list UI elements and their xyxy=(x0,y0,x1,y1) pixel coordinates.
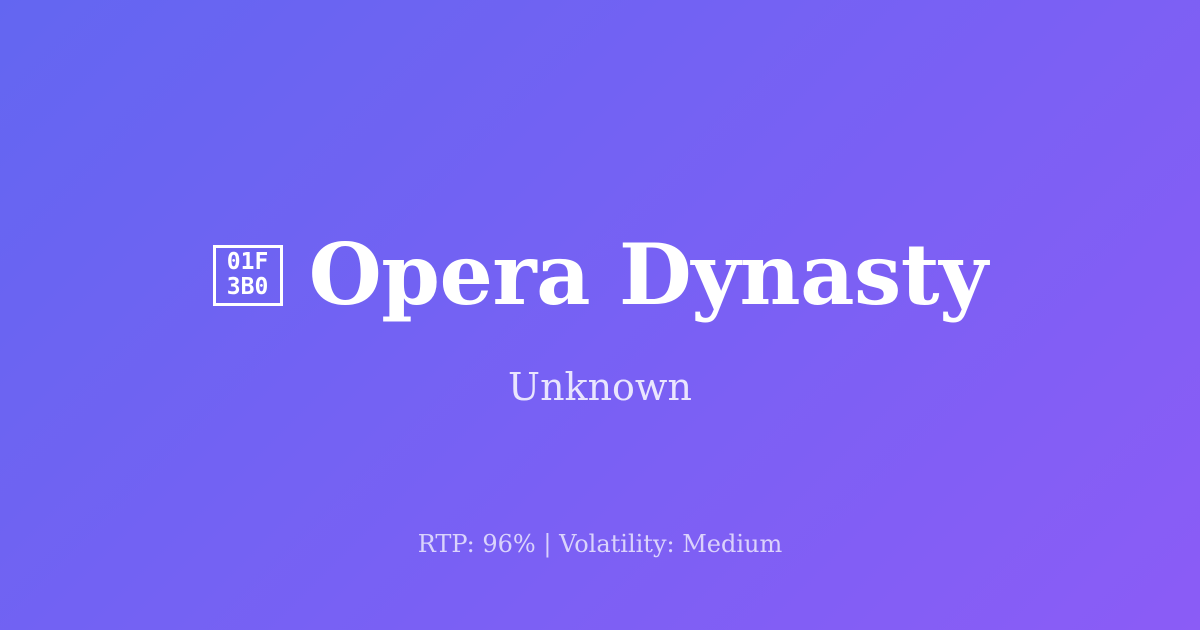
og-card: 01F 3B0 Opera Dynasty Unknown RTP: 96% |… xyxy=(0,0,1200,630)
tofu-codepoint-row-top: 01F xyxy=(227,250,269,275)
page-title: Opera Dynasty xyxy=(309,232,988,318)
game-stats-line: RTP: 96% | Volatility: Medium xyxy=(0,529,1200,559)
page-subtitle: Unknown xyxy=(0,364,1200,410)
tofu-codepoint-row-bottom: 3B0 xyxy=(227,275,269,300)
title-row: 01F 3B0 Opera Dynasty xyxy=(0,232,1200,318)
slot-machine-icon: 01F 3B0 xyxy=(213,245,283,306)
